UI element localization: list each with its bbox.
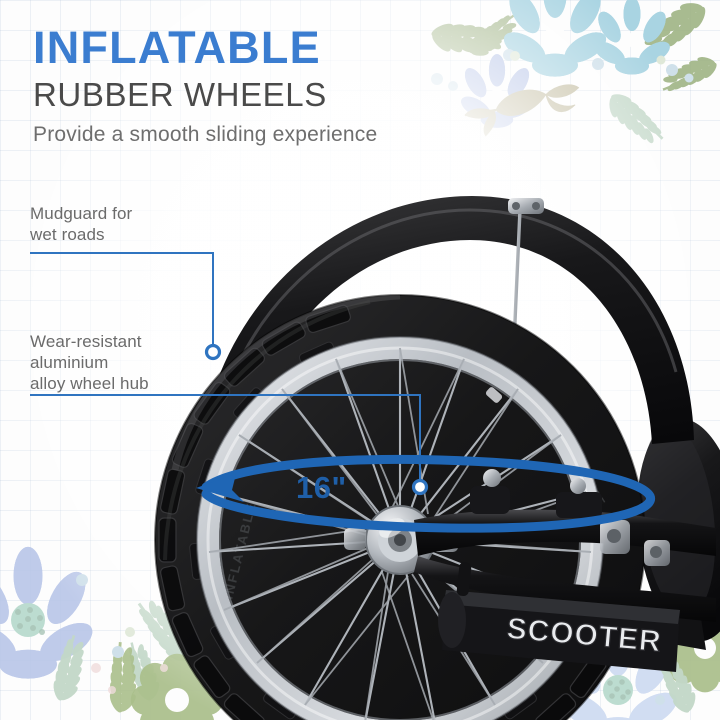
decor-cluster-bottom (0, 547, 720, 720)
leader-marker-mudguard (207, 346, 220, 359)
aluminium-alloy-rim (197, 337, 603, 720)
callout-label-mudguard: Mudguard for wet roads (30, 203, 132, 245)
callout-label-wheel-hub: Wear-resistant aluminium alloy wheel hub (30, 331, 149, 394)
scooter-frame: SCOOTER (414, 469, 716, 672)
product-infographic: INFLATABLE 16 x 2.125 (0, 0, 720, 720)
leader-marker-wheel-hub (414, 481, 427, 494)
dimension-label: 16" (296, 470, 347, 506)
mudguard (186, 196, 694, 592)
spokes-tangential (209, 348, 591, 720)
rear-fender-disc (627, 413, 720, 650)
spokes (209, 348, 591, 720)
frame-brand-text: SCOOTER (505, 612, 663, 658)
page-title: INFLATABLE (33, 22, 377, 74)
frame-deck (438, 590, 680, 672)
brake-caliper (470, 469, 670, 566)
page-tagline: Provide a smooth sliding experience (33, 120, 377, 150)
dimension-arrowhead (196, 474, 244, 502)
wheel-hub (344, 506, 458, 574)
headings-block: INFLATABLE RUBBER WHEELS Provide a smoot… (33, 22, 377, 150)
decor-cluster-top-right (426, 0, 720, 155)
mudguard-stay-wires (214, 210, 520, 654)
tire-sidewall-text: INFLATABLE 16 x 2.125 (220, 434, 609, 601)
rubber-tire: INFLATABLE 16 x 2.125 (155, 295, 645, 720)
dimension-ring (206, 459, 651, 528)
page-subtitle: RUBBER WHEELS (33, 74, 377, 116)
svg-text:16 x 2.125: 16 x 2.125 (553, 434, 609, 511)
valve-stem (456, 561, 471, 596)
svg-text:INFLATABLE: INFLATABLE (220, 500, 259, 600)
stay-clamp (508, 198, 544, 214)
leader-line-wheel-hub (30, 395, 420, 483)
